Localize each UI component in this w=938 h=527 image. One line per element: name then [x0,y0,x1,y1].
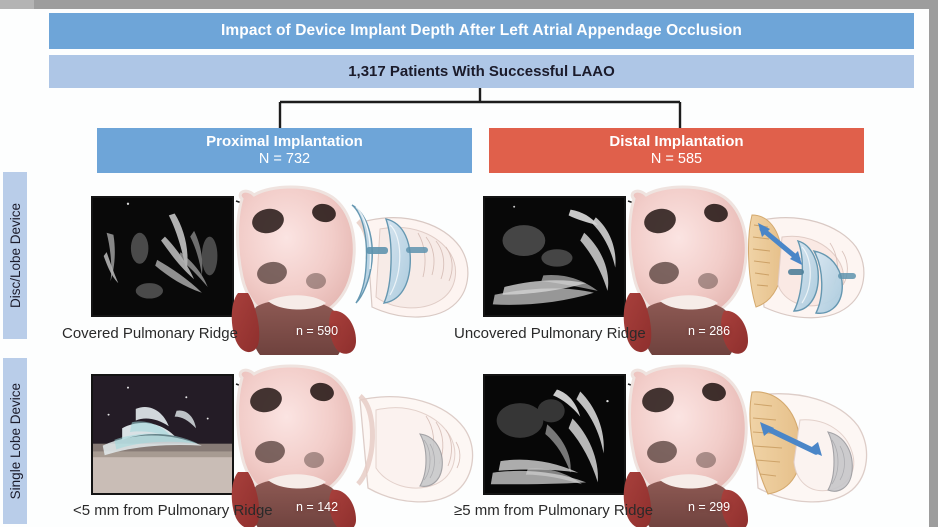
caption-single-proximal: <5 mm from Pulmonary Ridge [73,502,273,519]
infographic-root: Impact of Device Implant Depth After Lef… [0,0,938,527]
panel-disc-proximal: Covered Pulmonary Ridge n = 590 [60,185,480,355]
heart-illustration-disc-proximal [220,185,482,355]
row-label-disc-lobe-device: Disc/Lobe Device [3,172,27,339]
count-disc-distal: n = 286 [688,324,730,338]
title-banner: Impact of Device Implant Depth After Lef… [49,13,914,49]
echo-image-disc-distal[interactable] [483,196,626,317]
count-disc-proximal: n = 590 [296,324,338,338]
row-label-disc-lobe-device-text: Disc/Lobe Device [8,203,23,308]
group-n-distal: N = 585 [651,151,702,168]
heart-illustration-disc-distal [612,185,874,355]
cohort-total-label: 1,317 Patients With Successful LAAO [348,63,615,80]
panel-single-distal: ≥5 mm from Pulmonary Ridge n = 299 [452,363,872,527]
echo-image-single-proximal[interactable] [91,374,234,495]
caption-disc-proximal: Covered Pulmonary Ridge [62,325,238,342]
count-single-proximal: n = 142 [296,500,338,514]
group-box-distal[interactable]: Distal Implantation N = 585 [489,128,864,173]
panel-single-proximal: <5 mm from Pulmonary Ridge n = 142 [60,363,480,527]
row-label-single-lobe-device: Single Lobe Device [3,358,27,524]
group-n-proximal: N = 732 [259,151,310,168]
page-title: Impact of Device Implant Depth After Lef… [221,22,742,40]
panel-disc-distal: Uncovered Pulmonary Ridge n = 286 [452,185,872,355]
caption-single-distal: ≥5 mm from Pulmonary Ridge [454,502,653,519]
echo-image-disc-proximal[interactable] [91,196,234,317]
flow-connector [260,88,700,130]
group-title-distal: Distal Implantation [609,133,743,151]
group-box-proximal[interactable]: Proximal Implantation N = 732 [97,128,472,173]
echo-image-single-distal[interactable] [483,374,626,495]
row-label-single-lobe-device-text: Single Lobe Device [8,383,23,499]
cohort-banner: 1,317 Patients With Successful LAAO [49,55,914,88]
caption-disc-distal: Uncovered Pulmonary Ridge [454,325,646,342]
group-title-proximal: Proximal Implantation [206,133,363,151]
count-single-distal: n = 299 [688,500,730,514]
window-topleft-strip [0,0,34,9]
window-right-strip [929,0,938,527]
window-top-strip [0,0,938,9]
